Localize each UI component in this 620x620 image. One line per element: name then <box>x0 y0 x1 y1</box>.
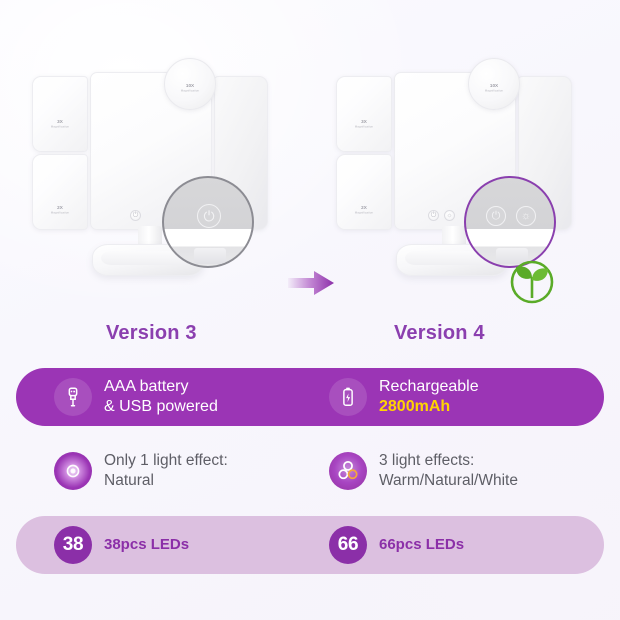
feature-line-1: Only 1 light effect: <box>104 451 228 471</box>
mag-caption: Magnification <box>338 212 390 215</box>
mag-caption: Magnification <box>470 90 518 93</box>
brightness-icon: ☼ <box>516 206 536 226</box>
usb-cable-icon <box>54 378 92 416</box>
feature-text-v3-leds: 38pcs LEDs <box>104 535 189 554</box>
mirror-neck-zoomed <box>194 248 226 264</box>
magnification-label-2x: 2X Magnification <box>34 206 86 215</box>
feature-line-2: Natural <box>104 471 228 491</box>
led-count-value: 38 <box>63 534 84 556</box>
power-icon: ⏻ <box>197 204 221 228</box>
version-4-label: Version 4 <box>394 322 485 345</box>
version-label-row: Version 3 Version 4 <box>0 322 620 356</box>
feature-text-v3-light: Only 1 light effect: Natural <box>104 451 228 491</box>
battery-charging-icon <box>329 378 367 416</box>
feature-line-1: 38pcs LEDs <box>104 535 189 554</box>
mag-caption: Magnification <box>166 90 214 93</box>
feature-cell-v3-leds: 38 38pcs LEDs <box>54 526 329 564</box>
feature-text-v3-power: AAA battery & USB powered <box>104 377 218 418</box>
product-image-version-3: 3X Magnification 2X Magnification 10X Ma… <box>14 48 299 278</box>
power-icon: ⏻ <box>428 210 439 221</box>
power-icon: ⏻ <box>130 210 141 221</box>
mag-caption: Magnification <box>34 212 86 215</box>
zoom-callout-v3: ⏻ <box>162 176 254 268</box>
feature-cell-v3-light: Only 1 light effect: Natural <box>54 451 329 491</box>
led-count-value: 66 <box>338 534 359 556</box>
mirror-wing-bottom-left <box>32 154 88 230</box>
magnification-label-10x: 10X Magnification <box>166 84 214 93</box>
feature-line-1: Rechargeable <box>379 377 479 397</box>
feature-text-v4-power: Rechargeable 2800mAh <box>379 377 479 418</box>
feature-line-2: 2800mAh <box>379 397 479 417</box>
feature-line-2: & USB powered <box>104 397 218 417</box>
mirror-wing-bottom-left <box>336 154 392 230</box>
feature-row-led-count: 38 38pcs LEDs 66 66pcs LEDs <box>16 516 604 574</box>
version-3-label: Version 3 <box>106 322 197 345</box>
feature-line-2: Warm/Natural/White <box>379 471 518 491</box>
feature-line-1: 3 light effects: <box>379 451 518 471</box>
feature-cell-v3-power: AAA battery & USB powered <box>54 377 329 418</box>
three-lights-icon <box>329 452 367 490</box>
mirror-wing-top-left <box>32 76 88 152</box>
product-comparison-area: 3X Magnification 2X Magnification 10X Ma… <box>0 0 620 310</box>
magnification-label-3x: 3X Magnification <box>34 120 86 129</box>
feature-comparison-rows: AAA battery & USB powered Rechargeable 2… <box>0 368 620 590</box>
led-count-badge-66: 66 <box>329 526 367 564</box>
brightness-icon: ☼ <box>444 210 455 221</box>
zoom-callout-v4: ⏻ ☼ <box>464 176 556 268</box>
feature-row-light-effects: Only 1 light effect: Natural 3 light eff… <box>16 442 604 500</box>
led-count-badge-38: 38 <box>54 526 92 564</box>
power-icon: ⏻ <box>486 206 506 226</box>
mag-caption: Magnification <box>34 126 86 129</box>
feature-row-power: AAA battery & USB powered Rechargeable 2… <box>16 368 604 426</box>
feature-line-1: 66pcs LEDs <box>379 535 464 554</box>
feature-text-v4-leds: 66pcs LEDs <box>379 535 464 554</box>
magnification-label-10x: 10X Magnification <box>470 84 518 93</box>
feature-text-v4-light: 3 light effects: Warm/Natural/White <box>379 451 518 491</box>
mirror-wing-top-left <box>336 76 392 152</box>
feature-cell-v4-leds: 66 66pcs LEDs <box>329 526 604 564</box>
magnification-label-3x: 3X Magnification <box>338 120 390 129</box>
trifold-mirror-v3: 3X Magnification 2X Magnification 10X Ma… <box>14 48 299 278</box>
eco-leaf-badge-icon <box>508 258 556 306</box>
mag-caption: Magnification <box>338 126 390 129</box>
trifold-mirror-v4: 3X Magnification 2X Magnification 10X Ma… <box>318 48 603 278</box>
magnification-label-2x: 2X Magnification <box>338 206 390 215</box>
feature-cell-v4-light: 3 light effects: Warm/Natural/White <box>329 451 604 491</box>
single-light-icon <box>54 452 92 490</box>
feature-cell-v4-power: Rechargeable 2800mAh <box>329 377 604 418</box>
feature-line-1: AAA battery <box>104 377 218 397</box>
product-image-version-4: 3X Magnification 2X Magnification 10X Ma… <box>318 48 603 278</box>
upgrade-arrow-icon <box>288 270 334 296</box>
